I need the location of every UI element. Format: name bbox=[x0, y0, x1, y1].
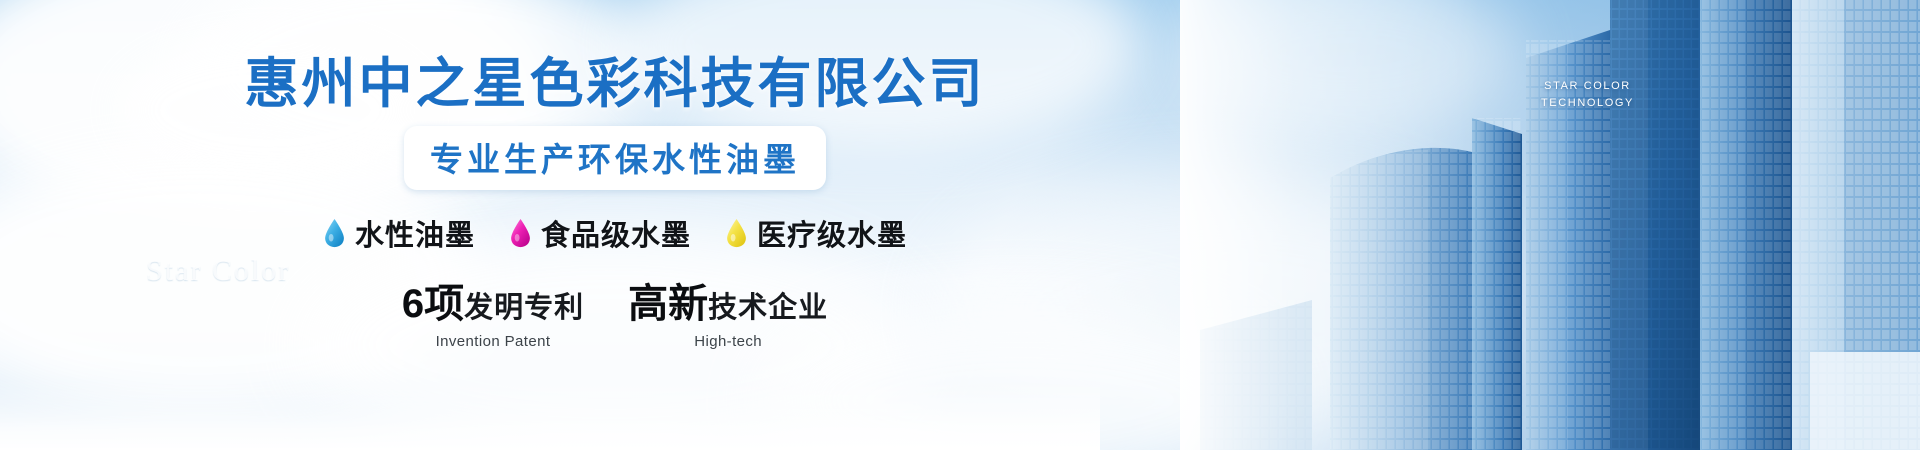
company-headline: 惠州中之星色彩科技有限公司 bbox=[245, 56, 986, 112]
feature-label: 水性油墨 bbox=[355, 212, 475, 254]
feature-item: 水性油墨 bbox=[323, 212, 475, 254]
banner-content: 惠州中之星色彩科技有限公司 专业生产环保水性油墨 水性油墨 bbox=[0, 0, 1230, 450]
building-caption-line1: STAR COLOR bbox=[1541, 78, 1634, 95]
city-skyline-illustration: STAR COLOR TECHNOLOGY bbox=[1180, 0, 1920, 450]
promotional-banner: STAR COLOR TECHNOLOGY Star Color 惠州中之星色彩… bbox=[0, 0, 1920, 450]
credential-item: 高新技术企业 High-tech bbox=[628, 284, 828, 350]
credential-text: 技术企业 bbox=[708, 292, 828, 324]
water-drop-icon bbox=[509, 218, 532, 248]
building-caption: STAR COLOR TECHNOLOGY bbox=[1541, 78, 1634, 112]
feature-item: 医疗级水墨 bbox=[725, 212, 907, 254]
credential-item: 6项发明专利 Invention Patent bbox=[402, 284, 584, 350]
credential-list: 6项发明专利 Invention Patent 高新技术企业 High-tech bbox=[402, 284, 828, 350]
credential-title: 6项发明专利 bbox=[402, 284, 584, 324]
feature-list: 水性油墨 食品级水墨 bbox=[323, 212, 907, 254]
water-drop-icon bbox=[323, 218, 346, 248]
credential-highlight: 高新 bbox=[628, 282, 708, 326]
credential-subtitle: High-tech bbox=[628, 333, 828, 350]
credential-subtitle: Invention Patent bbox=[402, 333, 584, 350]
water-drop-icon bbox=[725, 218, 748, 248]
credential-title: 高新技术企业 bbox=[628, 284, 828, 324]
tagline-badge: 专业生产环保水性油墨 bbox=[404, 126, 826, 190]
feature-label: 医疗级水墨 bbox=[757, 212, 907, 254]
skyline-svg bbox=[1180, 0, 1920, 450]
credential-highlight: 6项 bbox=[402, 282, 464, 326]
credential-text: 发明专利 bbox=[464, 292, 584, 324]
building-caption-line2: TECHNOLOGY bbox=[1541, 95, 1634, 112]
feature-label: 食品级水墨 bbox=[541, 212, 691, 254]
feature-item: 食品级水墨 bbox=[509, 212, 691, 254]
